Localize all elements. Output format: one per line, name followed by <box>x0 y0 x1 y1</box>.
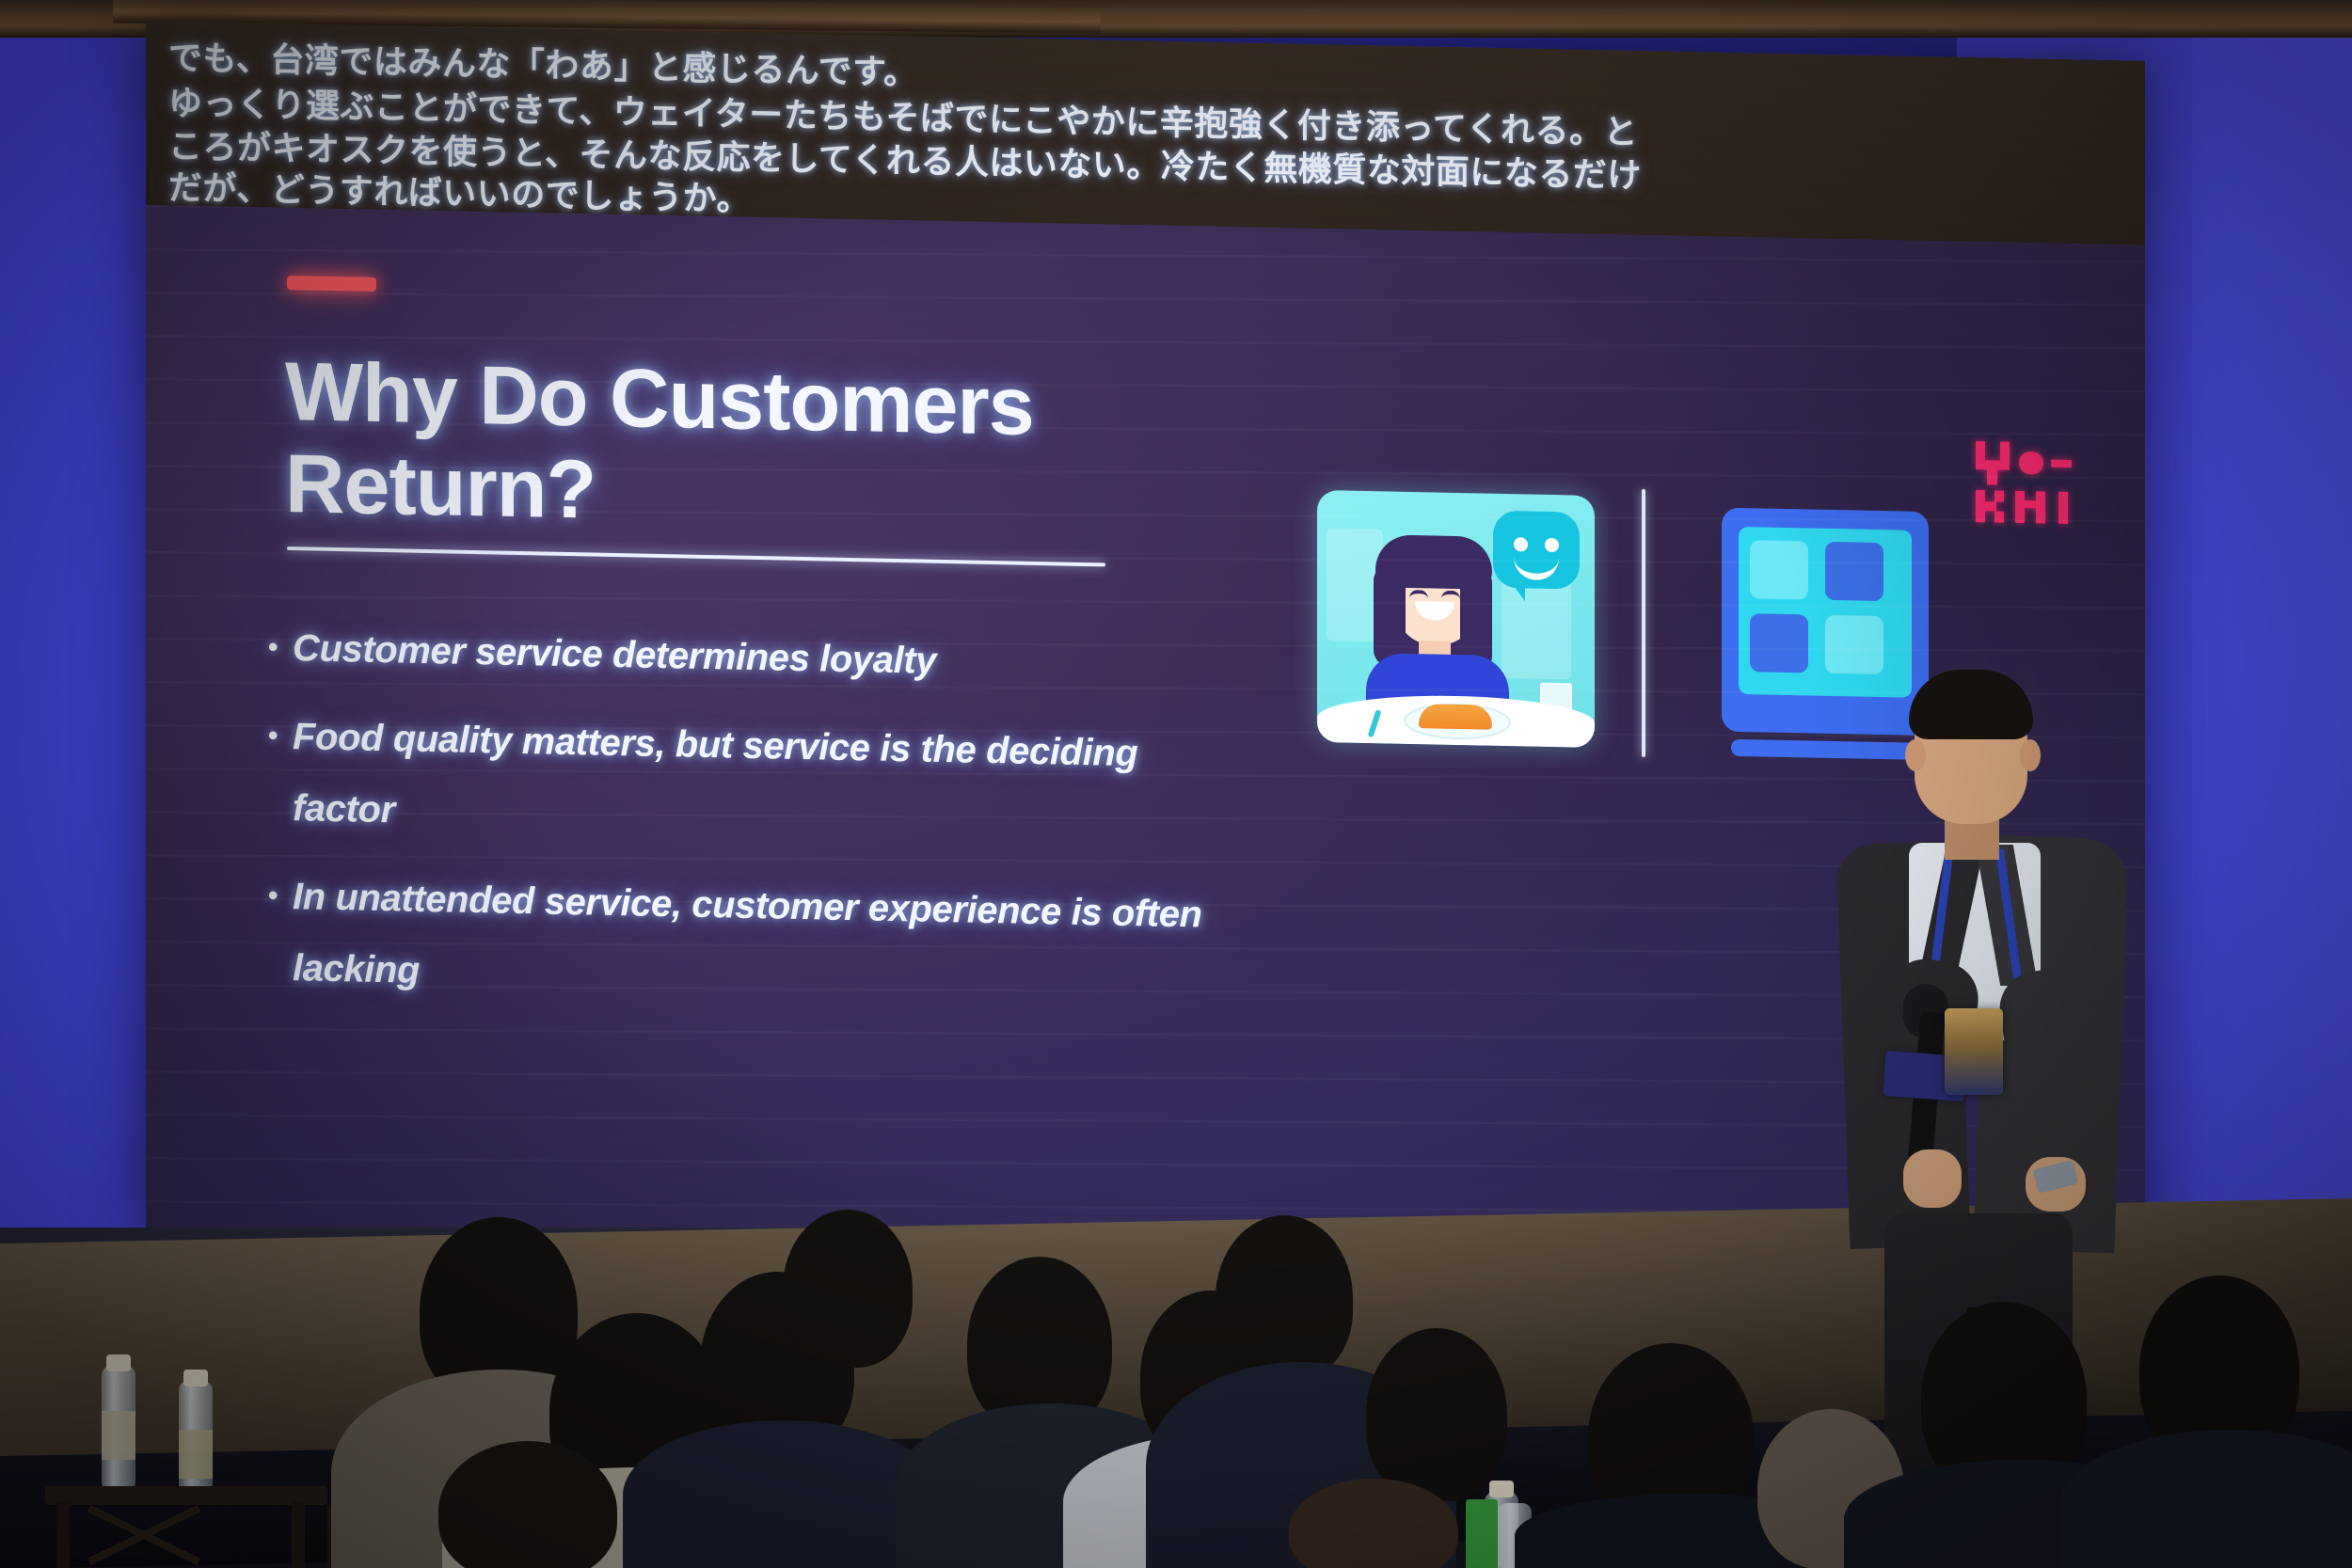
speaker-hair <box>1909 670 2033 739</box>
speech-bubble-tail <box>1510 580 1525 601</box>
bullet-item: • Customer service determines loyalty <box>268 612 1322 705</box>
customer-eye-right <box>1441 591 1460 601</box>
customer-hair-left <box>1374 564 1406 667</box>
bottle-cap <box>183 1370 208 1386</box>
side-table <box>45 1486 327 1505</box>
logo-pixel <box>2015 491 2025 523</box>
bullet-marker-icon: • <box>268 701 293 773</box>
chair-leg <box>56 1501 70 1568</box>
room-wall-right-panel <box>2192 0 2352 1317</box>
chair-leg <box>292 1501 305 1568</box>
kiosk-tile <box>1825 542 1883 601</box>
kiosk-tile <box>1750 613 1808 673</box>
slide-title-line-2: Return? <box>285 437 1226 548</box>
logo-pixel <box>1976 490 1985 522</box>
title-divider-rule <box>287 546 1105 566</box>
bottle-cap <box>1489 1481 1514 1497</box>
speaker-ear-right <box>2020 739 2041 771</box>
bottle-label <box>179 1430 213 1479</box>
bullet-marker-icon: • <box>268 861 293 933</box>
food-portion <box>1419 704 1492 730</box>
bullet-list: • Customer service determines loyalty • … <box>268 612 1322 1041</box>
smiley-mouth <box>1514 552 1559 580</box>
logo-pixel <box>1987 466 1997 484</box>
accent-bar <box>287 276 376 292</box>
yokai-logo <box>1974 441 2077 524</box>
slide-title: Why Do Customers Return? <box>285 345 1226 548</box>
smiley-eye-left <box>1514 537 1528 551</box>
logo-pixel <box>2036 491 2045 523</box>
logo-pixel <box>1994 511 2004 522</box>
logo-pixel <box>1994 490 2004 501</box>
logo-pixel <box>2058 492 2068 524</box>
smiley-eye-right <box>1545 538 1559 552</box>
logo-pixel <box>1976 441 1985 460</box>
bottle-cap <box>106 1354 131 1371</box>
kiosk-tile <box>1750 540 1808 599</box>
illustration-divider <box>1642 489 1645 757</box>
customer-eye-left <box>1409 590 1428 600</box>
bullet-text: Customer service determines loyalty <box>293 612 1322 705</box>
logo-pixel <box>2019 451 2043 475</box>
speaker-badge <box>1945 1008 2003 1095</box>
audience-head <box>783 1210 913 1368</box>
speech-bubble <box>1493 511 1580 590</box>
speaker-ear-left <box>1905 739 1926 771</box>
audience-head <box>1216 1215 1353 1381</box>
logo-pixel <box>2000 442 2010 461</box>
logo-pixel <box>1985 501 1996 511</box>
drink-glass <box>1540 683 1572 727</box>
happy-customer-illustration <box>1317 490 1595 748</box>
bottle-label-green <box>1466 1499 1498 1568</box>
bullet-marker-icon: • <box>268 612 293 685</box>
speaker-hand-left <box>1903 1149 1962 1208</box>
audience-shoulders <box>623 1420 943 1568</box>
logo-pixel <box>2051 460 2072 467</box>
photo-scene: でも、台湾ではみんな「わあ」と感じるんです。 ゆっくり選ぶことができて、ウェイタ… <box>0 0 2352 1568</box>
audience-head <box>1366 1328 1507 1501</box>
bottle-label <box>102 1411 135 1460</box>
